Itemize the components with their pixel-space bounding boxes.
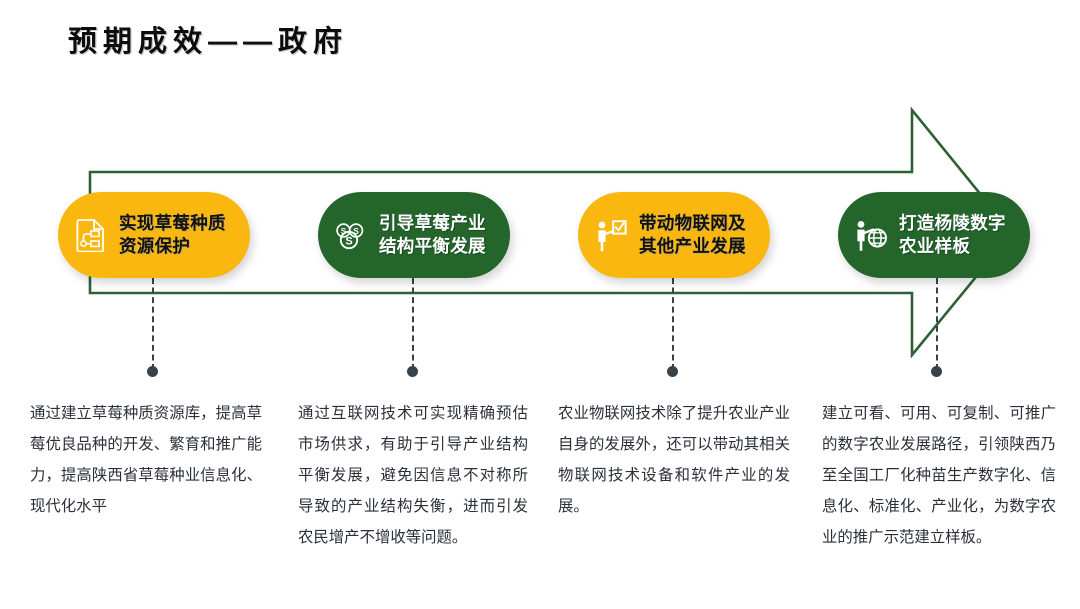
connector-line-2 [412, 278, 414, 370]
step-description-3: 农业物联网技术除了提升农业产业自身的发展外，还可以带动其相关物联网技术设备和软件… [558, 398, 790, 522]
step-pill-4[interactable]: 打造杨陵数字 农业样板 [838, 192, 1030, 278]
person-checklist-icon [592, 214, 630, 256]
connector-dot-4 [931, 366, 942, 377]
step-description-2: 通过互联网技术可实现精确预估市场供求，有助于引导产业结构平衡发展，避免因信息不对… [298, 398, 528, 553]
connector-dot-2 [407, 366, 418, 377]
person-globe-icon [852, 214, 890, 256]
step-pill-label-2: 引导草莓产业 结构平衡发展 [379, 212, 486, 258]
step-pill-3[interactable]: 带动物联网及 其他产业发展 [578, 192, 770, 278]
step-pill-label-4: 打造杨陵数字 农业样板 [899, 212, 1006, 258]
page-title: 预期成效——政府 [68, 18, 348, 60]
connector-line-3 [672, 278, 674, 370]
step-pill-label-1: 实现草莓种质 资源保护 [119, 212, 226, 258]
svg-text:S: S [345, 235, 352, 247]
step-pill-2[interactable]: S S S 引导草莓产业 结构平衡发展 [318, 192, 510, 278]
step-description-1: 通过建立草莓种质资源库，提高草莓优良品种的开发、繁育和推广能力，提高陕西省草莓种… [30, 398, 262, 522]
step-description-4: 建立可看、可用、可复制、可推广的数字农业发展路径，引领陕西乃至全国工厂化种苗生产… [822, 398, 1056, 553]
step-pill-1[interactable]: 实现草莓种质 资源保护 [58, 192, 250, 278]
connector-dot-3 [667, 366, 678, 377]
step-pill-label-3: 带动物联网及 其他产业发展 [639, 212, 746, 258]
slide-canvas: 预期成效——政府 实现草莓种质 资源保护 [0, 0, 1080, 609]
coins-money-icon: S S S [332, 214, 370, 256]
connector-line-4 [936, 278, 938, 370]
document-flowchart-icon [72, 214, 110, 256]
connector-dot-1 [147, 366, 158, 377]
connector-line-1 [152, 278, 154, 370]
